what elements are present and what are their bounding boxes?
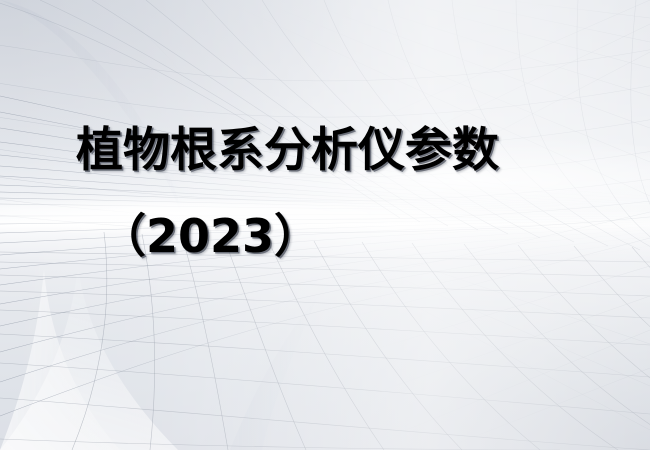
- slide-title-line-2: （2023）: [100, 210, 320, 263]
- title-slide: 植物根系分析仪参数 （2023）: [0, 0, 650, 450]
- slide-title-block: 植物根系分析仪参数 （2023）: [0, 0, 650, 450]
- slide-title-line-1: 植物根系分析仪参数: [76, 124, 499, 178]
